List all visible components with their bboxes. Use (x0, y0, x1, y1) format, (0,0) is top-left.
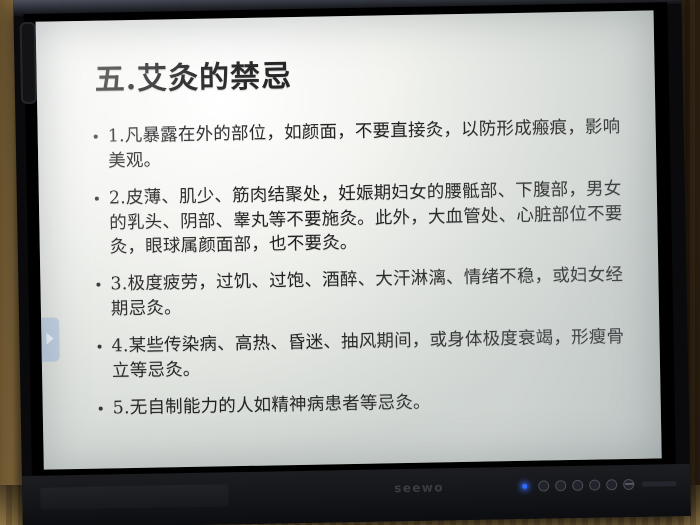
bullet-list: 1.凡暴露在外的部位，如颜面，不要直接灸，以防形成瘢痕，影响美观。 2.皮薄、肌… (94, 115, 633, 421)
power-led-indicator (522, 484, 527, 489)
brand-logo: seewo (394, 480, 444, 495)
speaker-grille (40, 484, 228, 509)
hardware-button-1[interactable] (538, 480, 549, 491)
list-item: 5.无自制能力的人如精神病患者等忌灸。 (98, 386, 632, 421)
interactive-whiteboard: 五.艾灸的禁忌 1.凡暴露在外的部位，如颜面，不要直接灸，以防形成瘢痕，影响美观… (13, 0, 691, 525)
hardware-control-group[interactable] (522, 479, 634, 492)
hardware-button-3[interactable] (572, 480, 583, 491)
board-side-handle[interactable] (20, 22, 37, 104)
display-screen[interactable]: 五.艾灸的禁忌 1.凡暴露在外的部位，如颜面，不要直接灸，以防形成瘢痕，影响美观… (36, 10, 662, 469)
list-item: 2.皮薄、肌少、筋肉结聚处，妊娠期妇女的腰骶部、下腹部，男女的乳头、阴部、睾丸等… (95, 177, 630, 261)
screenshot-root: 五.艾灸的禁忌 1.凡暴露在外的部位，如颜面，不要直接灸，以防形成瘢痕，影响美观… (0, 0, 700, 525)
page-title: 五.艾灸的禁忌 (94, 45, 627, 99)
hardware-button-4[interactable] (589, 479, 600, 490)
list-item: 1.凡暴露在外的部位，如颜面，不要直接灸，以防形成瘢痕，影响美观。 (94, 115, 629, 174)
hardware-button-2[interactable] (555, 480, 566, 491)
list-item: 3.极度疲劳，过饥、过饱、酒醉、大汗淋漓、情绪不稳，或妇女经期忌灸。 (96, 263, 631, 322)
play-triangle-icon (46, 332, 53, 344)
ir-receiver-dash (625, 483, 634, 485)
hardware-button-5[interactable] (606, 479, 617, 490)
side-toolbar-tab[interactable] (41, 317, 60, 361)
list-item: 4.某些传染病、高热、昏迷、抽风期间，或身体极度衰竭，形瘦骨立等忌灸。 (97, 325, 632, 384)
ir-receiver-window (642, 481, 676, 487)
presentation-slide: 五.艾灸的禁忌 1.凡暴露在外的部位，如颜面，不要直接灸，以防形成瘢痕，影响美观… (36, 10, 662, 469)
